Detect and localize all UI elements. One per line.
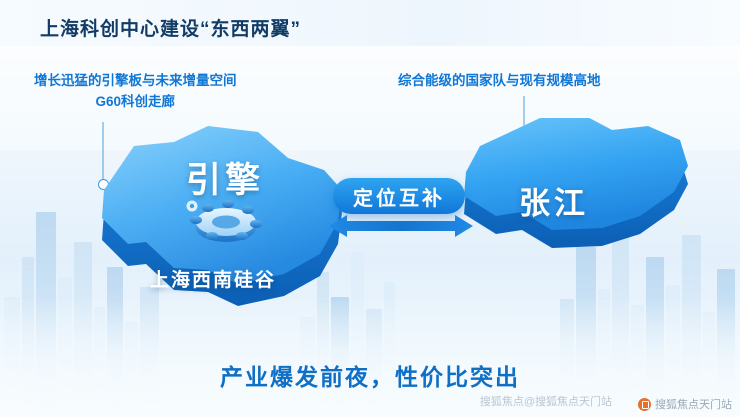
center-pill-label: 定位互补 (353, 182, 445, 211)
infographic-slide: 上海科创中心建设“东西两翼” 增长迅猛的引擎板与未来增量空间 G60科创走廊 综… (0, 0, 740, 417)
right-platform-label: 张江 (519, 178, 589, 223)
watermark-badge: 搜狐焦点天门站 (638, 396, 732, 412)
watermark-badge-label: 搜狐焦点天门站 (655, 396, 732, 412)
double-arrow-icon (327, 213, 475, 244)
annotation-left-line1: 增长迅猛的引擎板与未来增量空间 (34, 70, 237, 91)
footer-slogan: 产业爆发前夜，性价比突出 (0, 358, 740, 392)
left-platform-sublabel: 上海西南硅谷 (150, 265, 276, 292)
annotation-right-line1: 综合能级的国家队与现有规模高地 (398, 70, 601, 91)
watermark-text: 搜狐焦点@搜狐焦点天门站 (480, 393, 612, 409)
annotation-right: 综合能级的国家队与现有规模高地 (398, 70, 601, 91)
sohu-logo-icon (638, 398, 651, 411)
left-platform-label: 引擎 (186, 152, 264, 203)
annotation-left-line2: G60科创走廊 (34, 91, 237, 112)
annotation-left: 增长迅猛的引擎板与未来增量空间 G60科创走廊 (34, 70, 237, 112)
center-pill: 定位互补 (333, 178, 465, 214)
